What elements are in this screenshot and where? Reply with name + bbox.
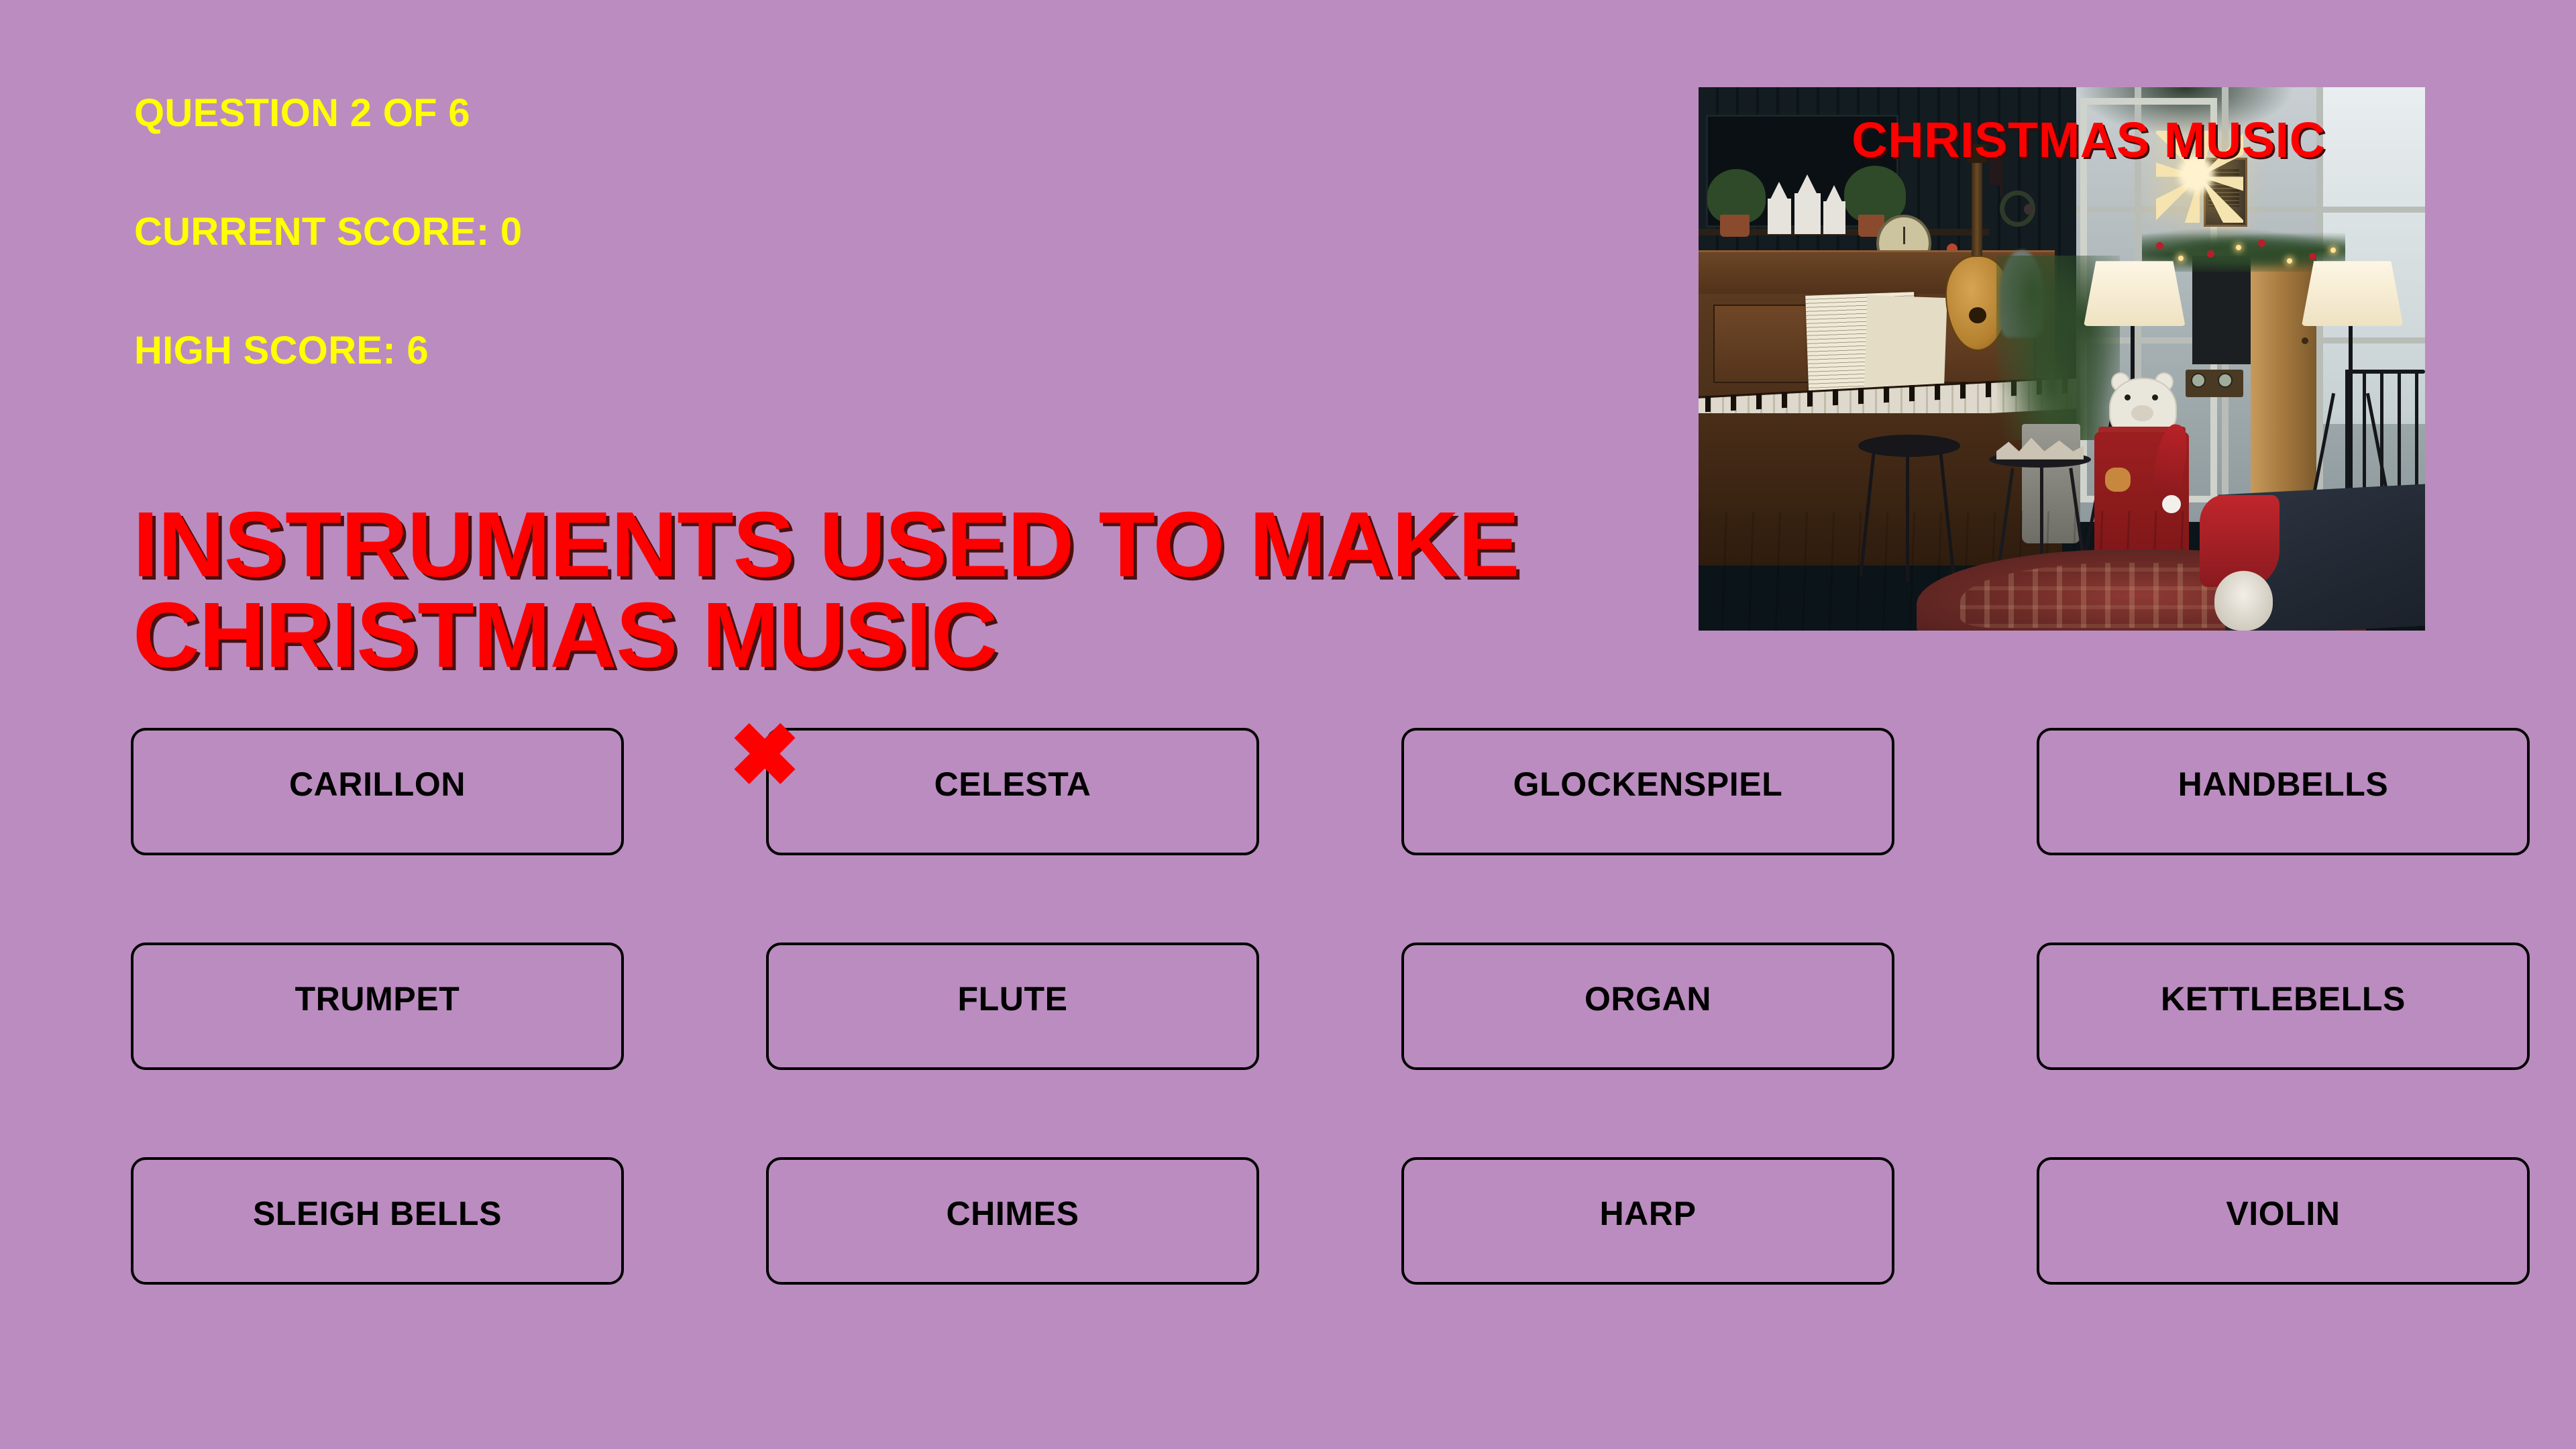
photo-caption: CHRISTMAS MUSIC (1699, 111, 2425, 168)
chair-rail (2345, 370, 2425, 374)
house-ornament (1823, 201, 1845, 234)
white-dog (2214, 571, 2273, 631)
answer-button-chimes[interactable]: CHIMES (766, 1157, 1259, 1285)
guitar-soundhole (1969, 307, 1986, 323)
answer-button-organ[interactable]: ORGAN (1401, 943, 1894, 1070)
answer-row: SLEIGH BELLS CHIMES HARP VIOLIN (131, 1157, 2438, 1285)
christmas-room-photo: CHRISTMAS MUSIC (1699, 87, 2425, 631)
answer-cell: CELESTA ✖ (766, 728, 1259, 855)
answer-row: TRUMPET FLUTE ORGAN KETTLEBELLS (131, 943, 2438, 1070)
answer-button-kettlebells[interactable]: KETTLEBELLS (2037, 943, 2530, 1070)
answer-button-harp[interactable]: HARP (1401, 1157, 1894, 1285)
answer-row: CARILLON CELESTA ✖ GLOCKENSPIEL HANDBELL… (131, 728, 2438, 855)
answer-cell: VIOLIN (2037, 1157, 2530, 1285)
question-progress-label: QUESTION 2 OF 6 (134, 94, 1342, 133)
answer-button-carillon[interactable]: CARILLON (131, 728, 624, 855)
answer-grid: CARILLON CELESTA ✖ GLOCKENSPIEL HANDBELL… (131, 728, 2438, 1285)
wooden-cabinet (2251, 250, 2316, 511)
answer-cell: ORGAN (1401, 943, 1894, 1070)
score-panel: QUESTION 2 OF 6 CURRENT SCORE: 0 HIGH SC… (134, 94, 1342, 370)
question-title: INSTRUMENTS USED TO MAKE CHRISTMAS MUSIC (133, 500, 1676, 681)
wooden-chair (2345, 370, 2425, 489)
answer-cell: FLUTE (766, 943, 1259, 1070)
sweater-patch (2105, 468, 2131, 492)
answer-cell: CHIMES (766, 1157, 1259, 1285)
answer-button-handbells[interactable]: HANDBELLS (2037, 728, 2530, 855)
photo-scene (1699, 87, 2425, 631)
answer-cell: HANDBELLS (2037, 728, 2530, 855)
answer-button-glockenspiel[interactable]: GLOCKENSPIEL (1401, 728, 1894, 855)
answer-cell: HARP (1401, 1157, 1894, 1285)
answer-button-sleigh-bells[interactable]: SLEIGH BELLS (131, 1157, 624, 1285)
answer-button-violin[interactable]: VIOLIN (2037, 1157, 2530, 1285)
floor-lamp-shade (2302, 261, 2404, 326)
piano-stool (1858, 435, 1960, 456)
answer-cell: KETTLEBELLS (2037, 943, 2530, 1070)
guitar-neck (1972, 158, 1982, 261)
answer-cell: SLEIGH BELLS (131, 1157, 624, 1285)
high-score-label: HIGH SCORE: 6 (134, 331, 1342, 370)
floor-lamp-shade (2084, 261, 2186, 326)
answer-button-flute[interactable]: FLUTE (766, 943, 1259, 1070)
dark-cabinet (2192, 256, 2257, 364)
answer-cell: CARILLON (131, 728, 624, 855)
bear-snout (2131, 405, 2153, 421)
answer-button-celesta[interactable]: CELESTA (766, 728, 1259, 855)
current-score-label: CURRENT SCORE: 0 (134, 213, 1342, 252)
house-ornament (1768, 199, 1791, 234)
answer-button-trumpet[interactable]: TRUMPET (131, 943, 624, 1070)
answer-cell: TRUMPET (131, 943, 624, 1070)
answer-cell: GLOCKENSPIEL (1401, 728, 1894, 855)
house-ornament (1794, 193, 1821, 234)
